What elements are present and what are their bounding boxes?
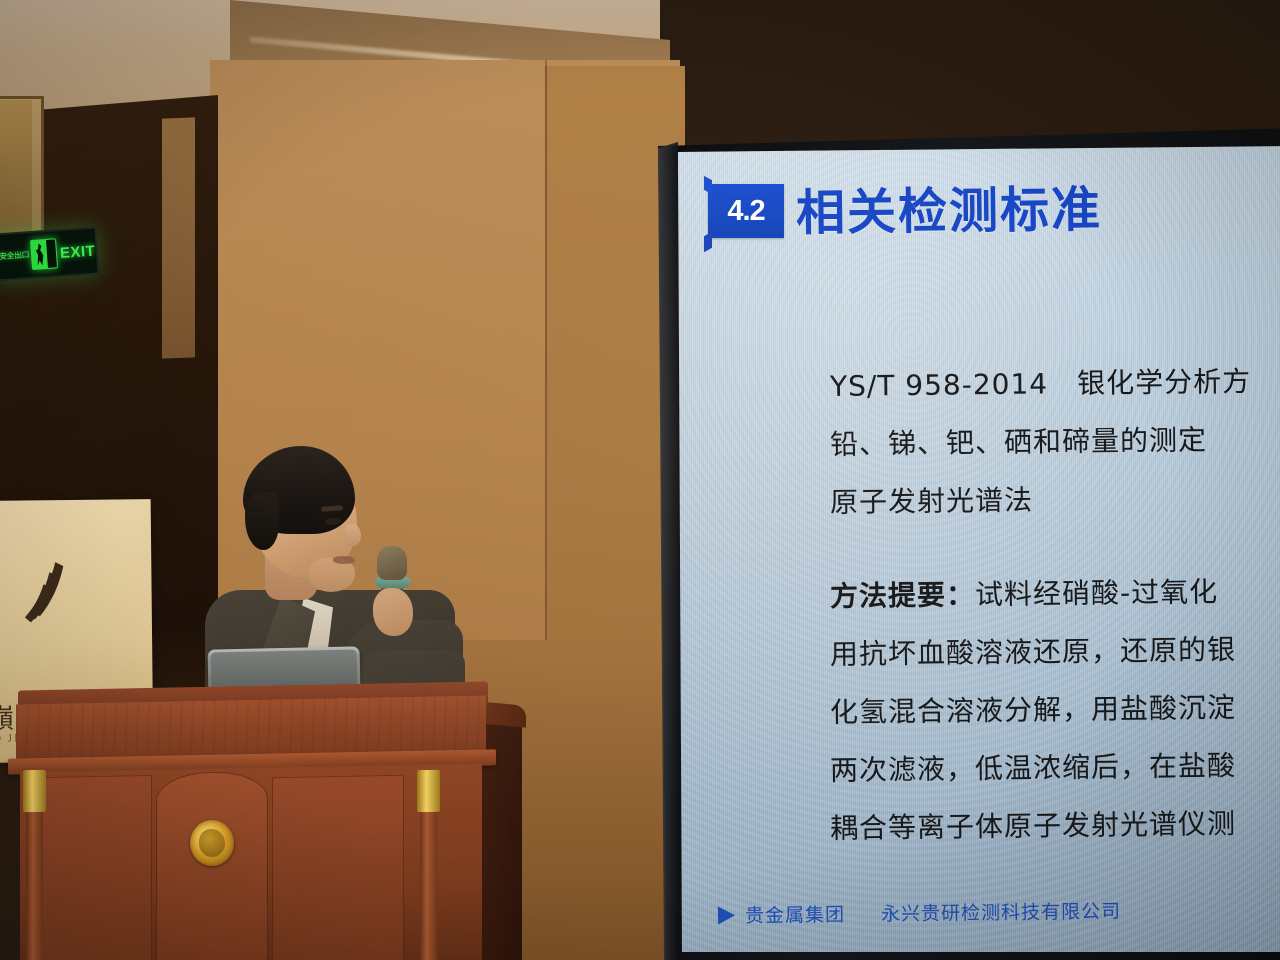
speaker-hair-side <box>245 492 279 550</box>
speaker-hand <box>373 588 413 636</box>
exit-sign: 安全出口 EXIT <box>0 226 100 281</box>
slide-section-badge: 4.2 <box>708 184 784 238</box>
exit-sign-chinese-label: 安全出口 <box>0 251 29 261</box>
microphone-head-icon <box>377 546 407 580</box>
podium-panel-left <box>42 775 152 960</box>
slide-method-first-line: 方法提要：试料经硝酸-过氧化 <box>830 561 1280 626</box>
recess-tan-strip <box>162 117 195 358</box>
slide-method-label: 方法提要： <box>830 578 975 613</box>
slide-method-line: 用抗坏血酸溶液还原，还原的银 <box>830 619 1280 684</box>
slide-footer: 贵金属集团 永兴贵研检测科技有限公司 <box>718 897 1121 929</box>
wood-framed-panel-inner <box>0 100 32 252</box>
slide-body: YS/T 958-2014 银化学分析方 铅、锑、钯、硒和碲量的测定 原子发射光… <box>830 358 1280 858</box>
speaker-nose <box>345 524 361 546</box>
slide-footer-company-name: 永兴贵研检测科技有限公司 <box>881 897 1121 927</box>
slide-method-line: 化氢混合溶液分解，用盐酸沉淀 <box>830 677 1280 742</box>
podium-column-cap-left <box>23 770 46 812</box>
slide-surface: 4.2 相关检测标准 YS/T 958-2014 银化学分析方 铅、锑、钯、硒和… <box>678 146 1280 952</box>
slide-body-line: YS/T 958-2014 银化学分析方 <box>830 351 1280 416</box>
chevron-right-icon <box>718 906 735 924</box>
exit-sign-english-label: EXIT <box>59 242 95 261</box>
slide-body-line: 铅、锑、钯、硒和碲量的测定 <box>830 409 1280 474</box>
slide-body-line: 原子发射光谱法 <box>830 467 1280 532</box>
slide-method-line: 试料经硝酸-过氧化 <box>975 575 1218 611</box>
feather-chevron-logo-icon <box>21 560 84 627</box>
slide-title: 相关检测标准 <box>796 170 1103 245</box>
slide-footer-group-name: 贵金属集团 <box>745 900 845 928</box>
speaker-mouth <box>333 556 355 564</box>
running-person-icon <box>30 238 58 270</box>
gold-medallion-ornament <box>190 820 234 866</box>
screen-bezel-highlight <box>656 142 678 960</box>
slide-method-line: 两次滤液，低温浓缩后，在盐酸 <box>830 735 1280 800</box>
podium-column-cap-right <box>417 770 440 812</box>
presentation-photo-scene: 安全出口 EXIT 嶺·京倫酒店 ND JINGLUN HO <box>0 0 1280 960</box>
podium-panel-right <box>272 775 404 960</box>
projection-screen: 4.2 相关检测标准 YS/T 958-2014 银化学分析方 铅、锑、钯、硒和… <box>652 128 1280 960</box>
podium <box>0 680 535 960</box>
slide-method-line: 耦合等离子体原子发射光谱仪测 <box>830 793 1280 858</box>
